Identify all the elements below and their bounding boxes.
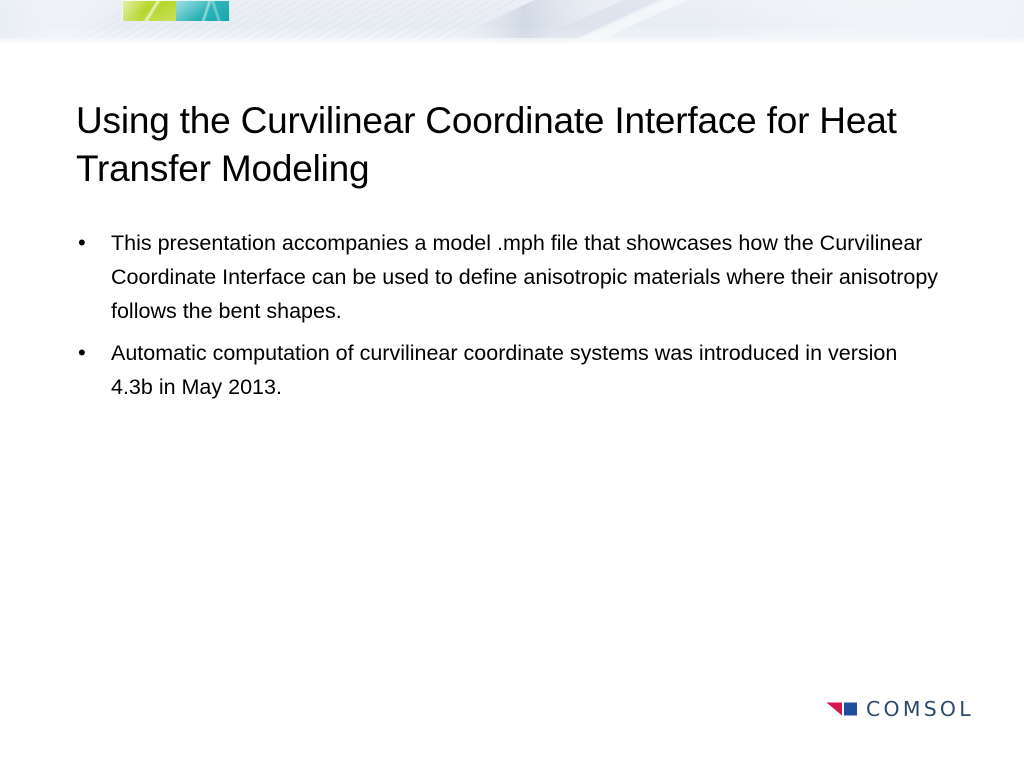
slide-title: Using the Curvilinear Coordinate Interfa… [76, 97, 966, 193]
comsol-logo-mark-icon [826, 701, 858, 717]
banner-bottom-fade [0, 40, 1024, 44]
bullet-marker-icon: • [76, 226, 111, 260]
slide: Using the Curvilinear Coordinate Interfa… [0, 0, 1024, 768]
bullet-text: This presentation accompanies a model .m… [111, 226, 943, 328]
comsol-wordmark: COMSOL [866, 698, 974, 720]
bullet-text: Automatic computation of curvilinear coo… [111, 336, 901, 404]
slide-body: • This presentation accompanies a model … [76, 226, 966, 412]
comsol-logo: COMSOL [826, 698, 972, 720]
bullet-marker-icon: • [76, 336, 111, 370]
banner-tile-teal [176, 0, 230, 21]
bullet-item: • This presentation accompanies a model … [76, 226, 966, 328]
bullet-item: • Automatic computation of curvilinear c… [76, 336, 966, 404]
header-banner [0, 0, 1024, 44]
banner-tile-green [122, 0, 176, 21]
